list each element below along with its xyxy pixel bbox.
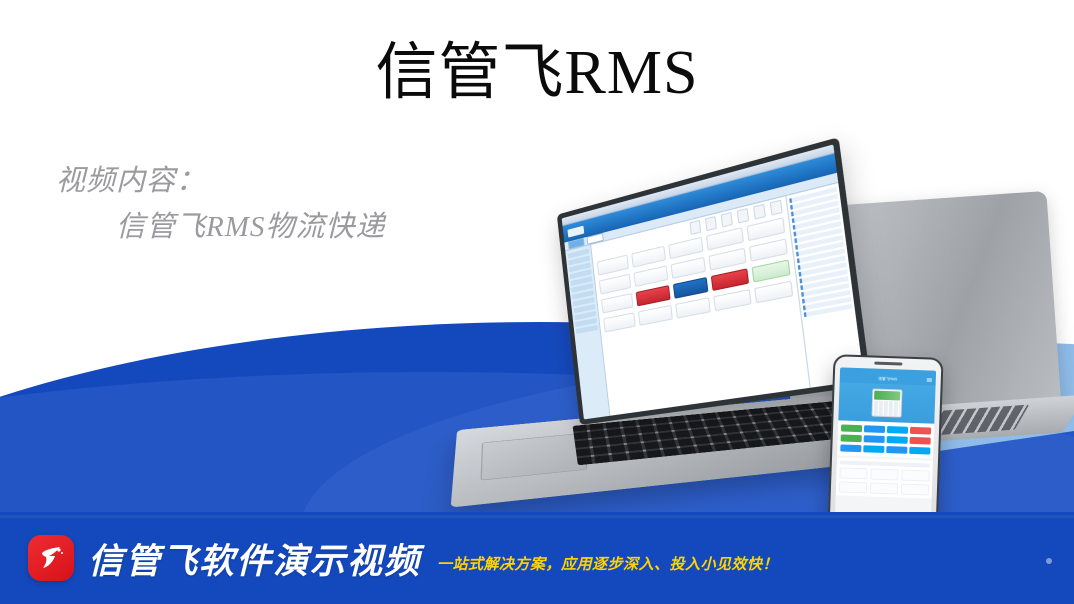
phone-stats-header [840,460,930,467]
module-icon [751,259,790,282]
module-icon [603,312,636,332]
brand-tagline: 一站式解决方案，应用逐步深入、投入小见效快！ [437,542,778,574]
module-icon [706,227,743,250]
module-icon [673,277,709,299]
app-logo-icon [567,225,584,237]
module-icon [638,305,672,326]
slide-root: 信管飞RMS 视频内容： 信管飞RMS物流快递 [0,0,1074,604]
phone-module-icon [840,444,861,452]
phone-stat-cell [839,467,867,479]
phone-app-title: 信管飞RMS [878,376,897,382]
desktop-app-window [562,144,864,419]
phone-stat-cell [901,470,929,482]
module-icon [675,297,711,319]
phone-hero-card [871,389,902,418]
phone-stat-cell [870,469,898,481]
phone-stats-grid [839,467,930,495]
phone-module-icon [910,427,931,435]
phone-module-icon [909,447,930,455]
device-composition: 信管飞RMS [440,170,1074,570]
module-icon [597,254,630,275]
phone-stats-panel [836,457,933,498]
phone-stat-cell [839,481,867,493]
phone-module-grid [837,420,934,458]
module-icon [601,293,634,314]
module-icon [749,238,788,262]
phone-hero-card-grid [874,401,901,417]
toolbar-icon [721,212,733,227]
module-icon [754,281,794,304]
module-icon [670,257,706,279]
phone-module-icon [887,436,908,444]
phone-module-icon [910,437,931,445]
phone-module-icon [841,434,862,442]
hamburger-menu-icon [927,378,932,382]
phone-module-icon [887,426,908,434]
toolbar-icon [753,204,766,220]
toolbar-icon [705,216,717,231]
phone-module-icon [886,446,907,454]
phone-stat-cell [901,484,929,496]
video-content-label: 视频内容： [56,165,206,197]
module-icon [668,237,704,260]
page-title: 信管飞RMS [0,42,1074,104]
phone-stat-cell [870,482,898,494]
module-icon [636,285,670,306]
phone-hero-banner [838,382,935,423]
laptop-screen [557,137,871,425]
module-icon [746,217,785,241]
module-icon [599,274,632,295]
phone-module-icon [863,445,884,453]
brand-logo-icon [28,535,74,581]
phone-module-icon [841,424,862,432]
module-icon [632,246,666,268]
laptop-trackpad [481,433,588,481]
bottom-banner: 信管飞软件演示视频 一站式解决方案，应用逐步深入、投入小见效快！ [0,512,1074,604]
toolbar-icon [770,200,783,216]
phone-earpiece [874,362,902,366]
module-icon [711,268,749,291]
phone-hero-card-header [874,391,900,401]
module-icon [713,289,751,311]
corner-dot [1046,558,1052,564]
toolbar-icon [689,220,701,235]
module-icon [634,265,668,287]
module-icon [709,248,747,271]
toolbar-icon [737,208,749,224]
phone-module-icon [864,425,885,433]
brand-name: 信管飞软件演示视频 [88,533,421,584]
phone-module-icon [864,435,885,443]
